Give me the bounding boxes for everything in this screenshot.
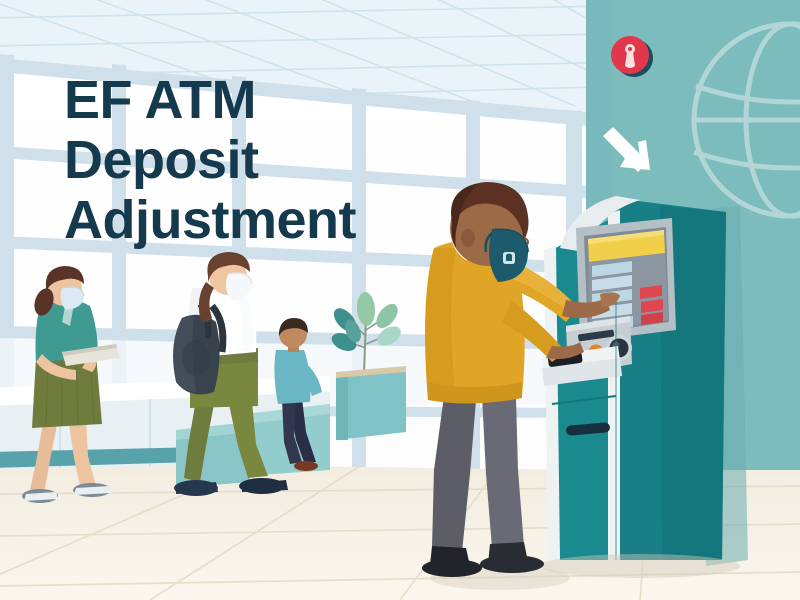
scene-svg: [0, 0, 800, 600]
illustration-canvas: EF ATM Deposit Adjustment: [0, 0, 800, 600]
padlock-keyhole-icon: [625, 44, 635, 68]
atm-screen-action-buttons[interactable]: [640, 285, 663, 325]
atm-kiosk[interactable]: [540, 196, 748, 578]
